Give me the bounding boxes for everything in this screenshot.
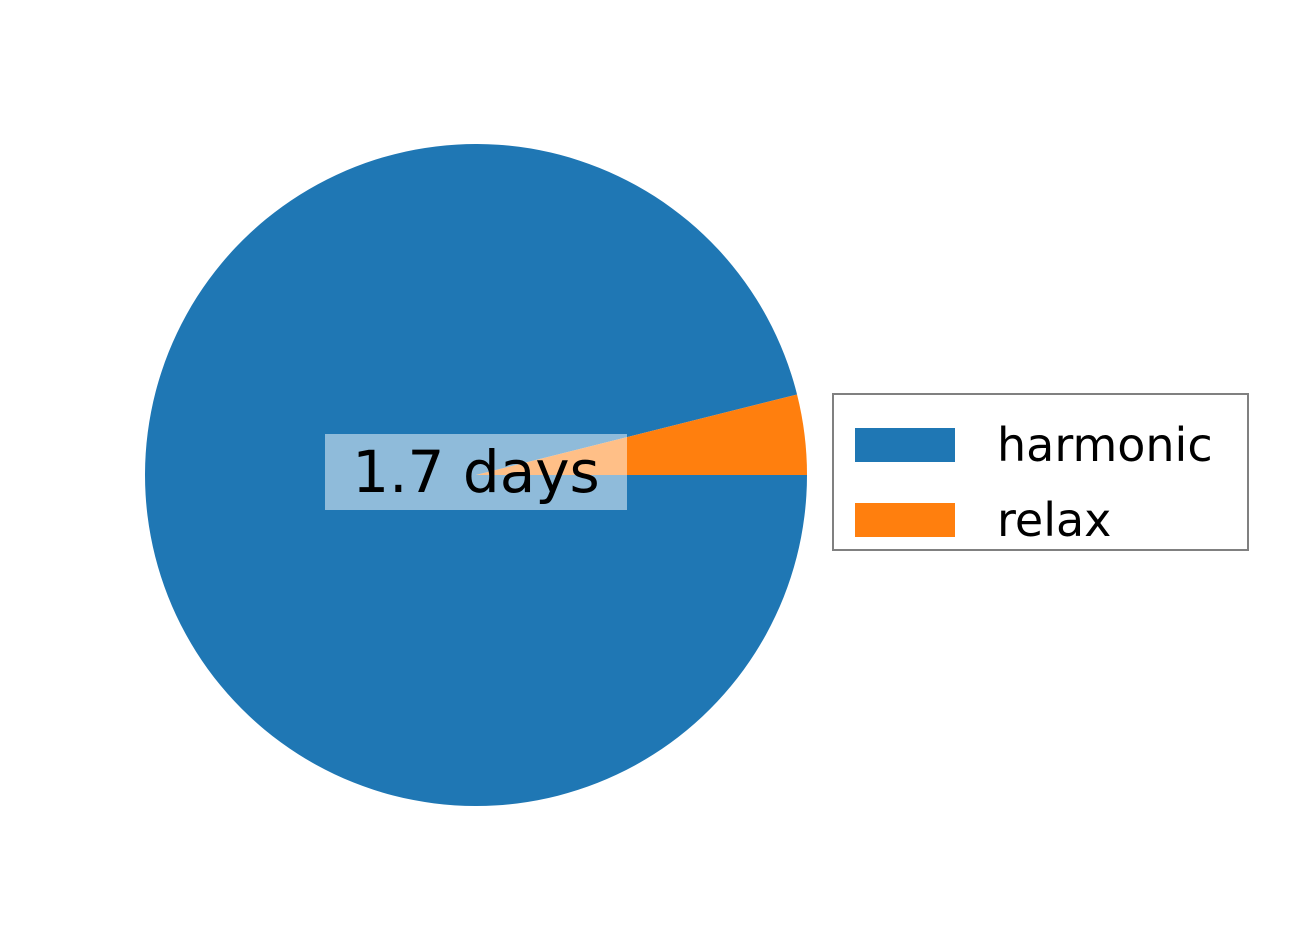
legend-item-relax[interactable]: relax (834, 484, 1111, 556)
legend-label-relax: relax (997, 497, 1111, 543)
pie-chart-figure: 1.7 days harmonic relax (0, 0, 1307, 951)
legend-item-harmonic[interactable]: harmonic (834, 409, 1213, 481)
wedge-label-harmonic: 1.7 days (325, 434, 627, 510)
legend: harmonic relax (832, 393, 1249, 551)
legend-swatch-harmonic (855, 428, 955, 462)
legend-label-harmonic: harmonic (997, 422, 1213, 468)
legend-swatch-relax (855, 503, 955, 537)
